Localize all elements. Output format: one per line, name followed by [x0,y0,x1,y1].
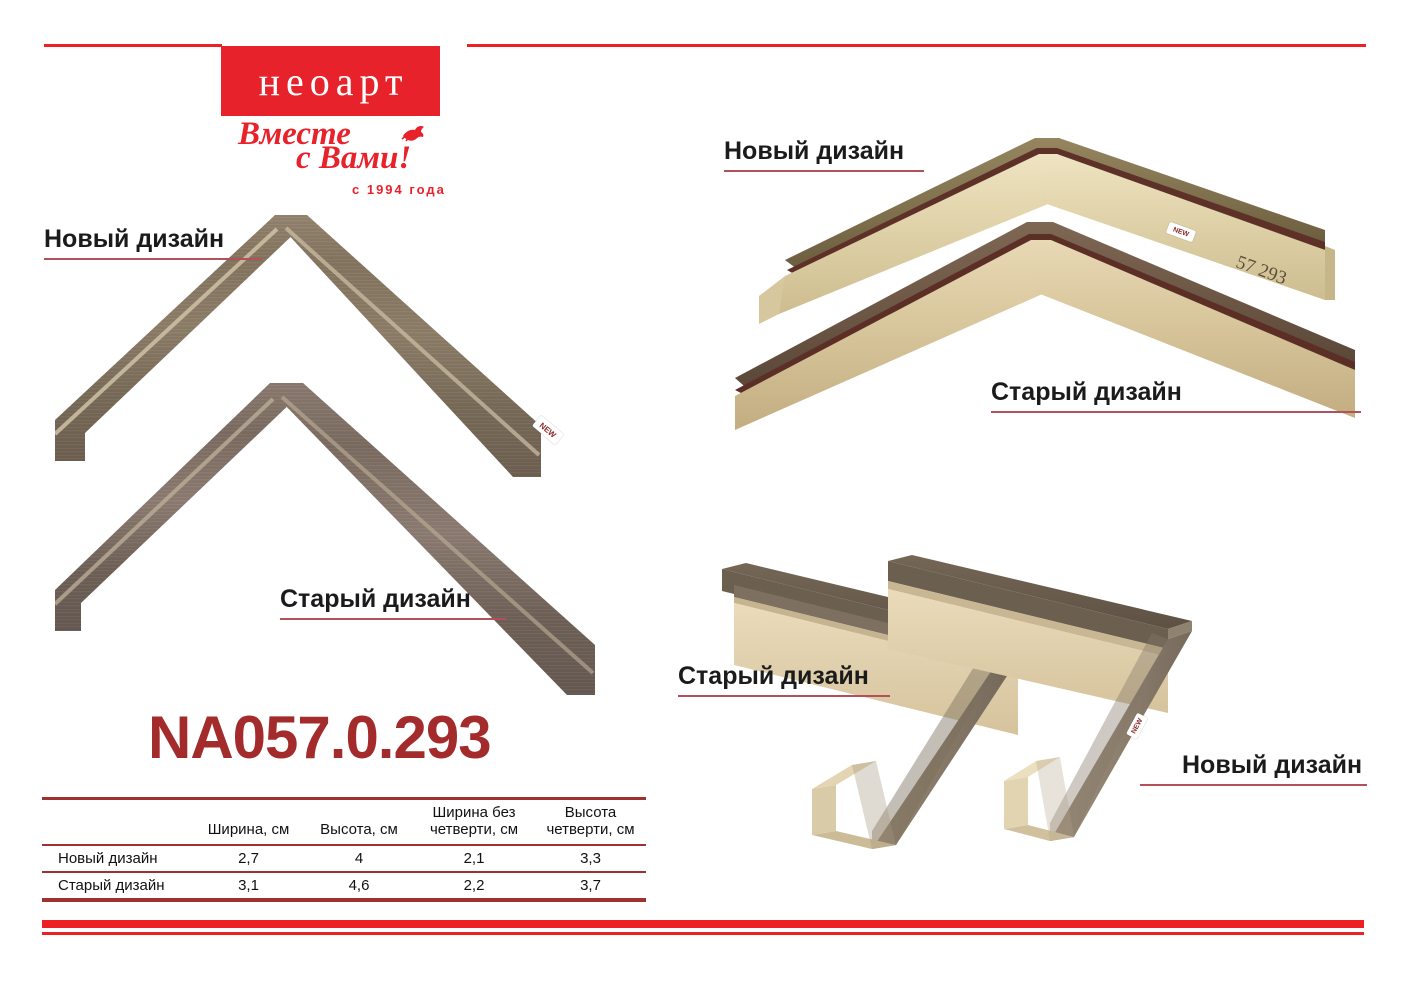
label-text: Старый дизайн [678,663,890,691]
table-row: Старый дизайн 3,1 4,6 2,2 3,7 [42,872,646,900]
top-rule-left [44,44,222,47]
spec-col-4: Высота четверти, см [535,799,646,845]
spec-table-head: Ширина, см Высота, см Ширина без четверт… [42,799,646,845]
bottom-rule-thick [42,920,1364,928]
product-code: NA057.0.293 [148,703,491,772]
photo-left-front-view: NEW [55,215,640,705]
label-underline [724,170,924,172]
spec-col-3: Ширина без четверти, см [413,799,535,845]
spec-col-0 [42,799,192,845]
label-underline [1140,784,1367,786]
spec-col-1: Ширина, см [192,799,305,845]
spec-cell: 2,2 [413,872,535,900]
frame-corners-perspective [700,545,1260,875]
brand-logo-block: неоарт [221,46,440,116]
label-underline [991,411,1361,413]
frame-chevrons-front [55,215,640,705]
spec-table-body: Новый дизайн 2,7 4 2,1 3,3 Старый дизайн… [42,845,646,901]
spec-cell: 3,7 [535,872,646,900]
spec-cell: 3,1 [192,872,305,900]
bottom-rule-thin [42,932,1364,935]
top-rule-right [467,44,1366,47]
spec-cell: 2,1 [413,845,535,872]
label-underline [280,618,506,620]
label-text: Новый дизайн [44,226,262,254]
spec-cell: 4 [305,845,413,872]
spec-cell: 3,3 [535,845,646,872]
label-text: Новый дизайн [1182,752,1367,780]
label-new-design-left: Новый дизайн [44,226,262,260]
spec-cell: 2,7 [192,845,305,872]
label-old-design-left: Старый дизайн [280,586,506,620]
spec-row-label: Новый дизайн [42,845,192,872]
table-row: Новый дизайн 2,7 4 2,1 3,3 [42,845,646,872]
brand-name: неоарт [221,46,440,116]
spec-row-label: Старый дизайн [42,872,192,900]
label-old-design-top-right: Старый дизайн [991,379,1361,413]
label-text: Старый дизайн [280,586,506,614]
slogan-line-2: с Вами! [296,142,411,175]
label-underline [44,258,262,260]
label-text: Старый дизайн [991,379,1361,407]
catalog-page: неоарт Вместе с Вами! с 1994 года [0,0,1415,1000]
spec-header-row: Ширина, см Высота, см Ширина без четверт… [42,799,646,845]
brand-slogan: Вместе с Вами! [218,116,453,176]
spec-table: Ширина, см Высота, см Ширина без четверт… [42,797,646,902]
label-new-design-top-right: Новый дизайн [724,138,924,172]
bird-icon [400,122,426,144]
label-text: Новый дизайн [724,138,924,166]
spec-cell: 4,6 [305,872,413,900]
brand-since: с 1994 года [352,182,446,197]
photo-bottom-right-corner-view: NEW [700,545,1260,875]
label-old-design-bottom-right: Старый дизайн [678,663,890,697]
spec-col-2: Высота, см [305,799,413,845]
label-underline [678,695,890,697]
label-new-design-bottom-right: Новый дизайн [1182,752,1367,786]
